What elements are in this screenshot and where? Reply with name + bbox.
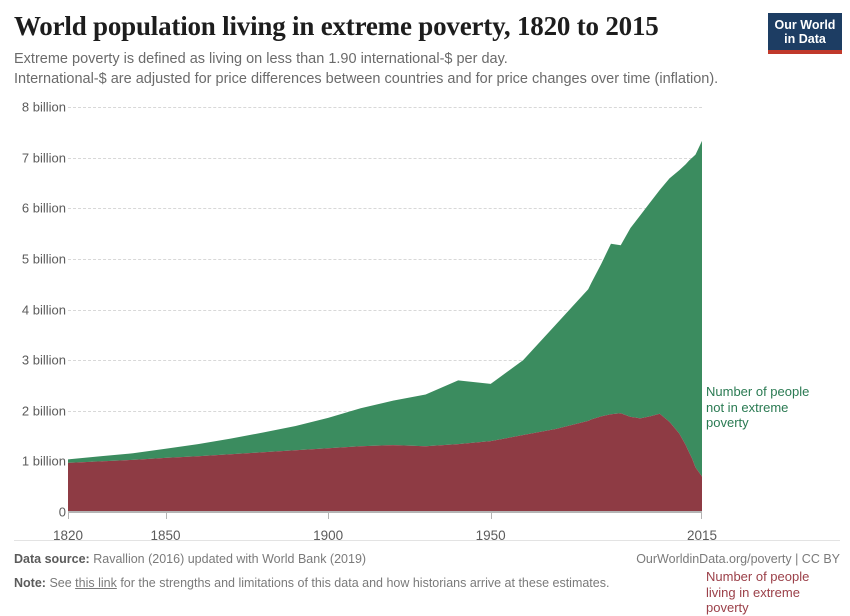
data-source: Data source: Ravallion (2016) updated wi… — [14, 550, 366, 569]
y-axis-label-7: 7 billion — [22, 150, 66, 165]
chart-subtitle: Extreme poverty is defined as living on … — [14, 49, 754, 89]
logo-line-2: in Data — [768, 32, 842, 46]
subtitle-line-1: Extreme poverty is defined as living on … — [14, 49, 754, 69]
data-source-text: Ravallion (2016) updated with World Bank… — [93, 552, 366, 566]
y-axis-label-4: 4 billion — [22, 302, 66, 317]
our-world-in-data-logo[interactable]: Our World in Data — [768, 13, 842, 54]
page-title: World population living in extreme pover… — [14, 10, 754, 42]
y-axis-label-5: 5 billion — [22, 251, 66, 266]
chart-area: 01 billion2 billion3 billion4 billion5 b… — [0, 96, 850, 536]
note-link[interactable]: this link — [75, 576, 117, 590]
chart-header: World population living in extreme pover… — [14, 10, 754, 89]
legend-label-not-in-poverty: Number of people not in extreme poverty — [706, 384, 809, 431]
legend-red-line-3: poverty — [706, 600, 809, 616]
owid-chart-page: World population living in extreme pover… — [0, 0, 850, 600]
note-prefix: Note: — [14, 576, 46, 590]
note-before-link: See — [49, 576, 75, 590]
x-axis-tick-1900 — [328, 512, 329, 519]
stacked-area-series — [68, 107, 702, 512]
y-axis-label-1: 1 billion — [22, 454, 66, 469]
footer-source-row: Data source: Ravallion (2016) updated wi… — [14, 550, 840, 569]
chart-footer: Data source: Ravallion (2016) updated wi… — [14, 540, 840, 593]
x-axis-tick-2015 — [701, 512, 702, 519]
y-axis-label-6: 6 billion — [22, 201, 66, 216]
subtitle-line-2: International-$ are adjusted for price d… — [14, 69, 754, 89]
legend-green-line-1: Number of people — [706, 384, 809, 400]
y-axis-label-3: 3 billion — [22, 353, 66, 368]
x-axis-tick-1820 — [68, 512, 69, 519]
y-axis-label-2: 2 billion — [22, 403, 66, 418]
data-source-prefix: Data source: — [14, 552, 90, 566]
note-after-link: for the strengths and limitations of thi… — [117, 576, 610, 590]
y-axis-label-0: 0 — [59, 505, 66, 520]
x-axis-line — [68, 511, 702, 512]
footer-note-row: Note: See this link for the strengths an… — [14, 574, 840, 593]
legend-green-line-2: not in extreme — [706, 400, 809, 416]
logo-line-1: Our World — [768, 18, 842, 32]
legend-green-line-3: poverty — [706, 415, 809, 431]
plot-region: 18201850190019502015 — [68, 107, 702, 512]
x-axis-tick-1950 — [491, 512, 492, 519]
gridline-0 — [68, 512, 702, 513]
source-url[interactable]: OurWorldinData.org/poverty | CC BY — [636, 550, 840, 569]
y-axis-label-8: 8 billion — [22, 100, 66, 115]
x-axis-tick-1850 — [166, 512, 167, 519]
